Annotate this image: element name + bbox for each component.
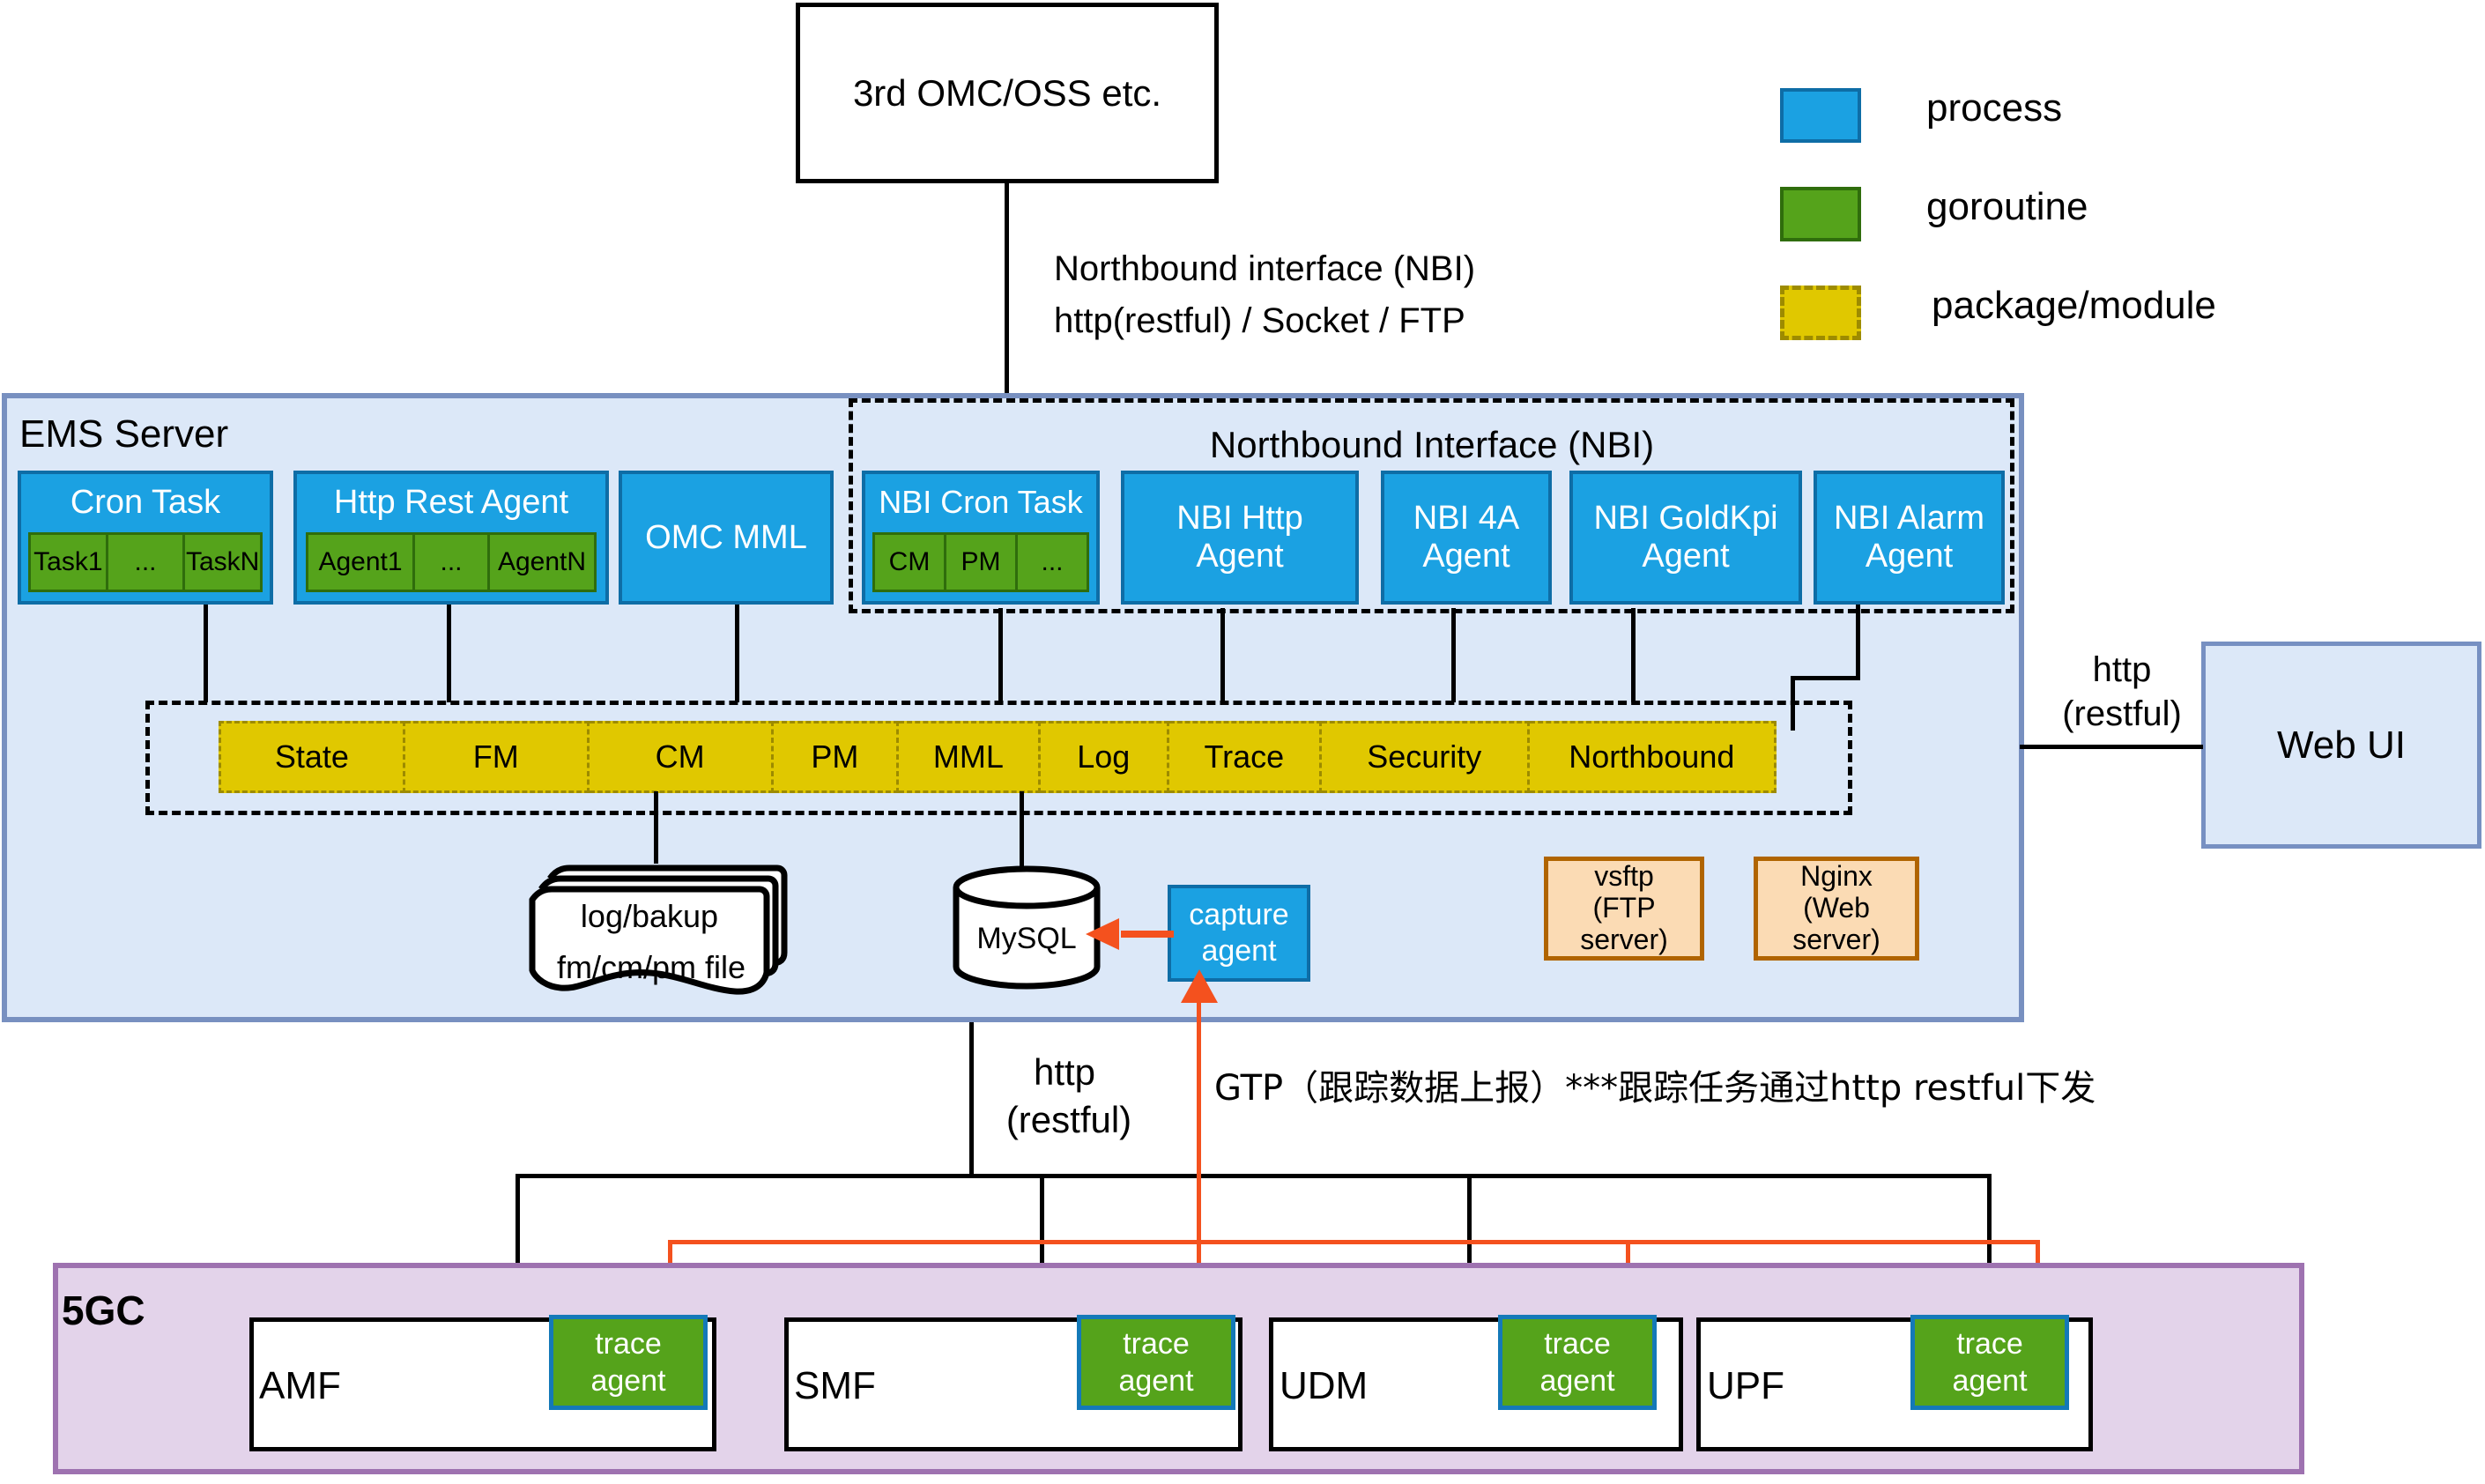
process-capture-agent-label: capture agent	[1189, 897, 1288, 969]
legend-swatch-process-icon	[1780, 88, 1861, 143]
nbi-link-label-line1: Northbound interface (NBI)	[1054, 249, 1475, 289]
file-store-label-line1: log/bakup	[539, 899, 760, 934]
trace-agent-amf-label-line1: trace	[595, 1325, 662, 1363]
gtp-trunk-vertical	[1197, 982, 1201, 1243]
legend-label-package: package/module	[1932, 284, 2216, 328]
goroutine-item[interactable]: Agent1	[306, 532, 415, 592]
process-nbi-goldkpi-agent-label: NBI GoldKpi Agent	[1593, 500, 1777, 575]
trace-agent-smf[interactable]: trace agent	[1077, 1315, 1235, 1410]
connector-mysql	[1020, 791, 1024, 871]
goroutine-item[interactable]: AgentN	[490, 532, 597, 592]
module-cm[interactable]: CM	[590, 721, 774, 793]
server-nginx-label-line2: (Web server)	[1758, 893, 1915, 956]
south-http-label-line1: http	[994, 1052, 1135, 1093]
goroutine-group-cron-task: Task1 ... TaskN	[28, 532, 263, 592]
process-http-rest-agent[interactable]: Http Rest Agent Agent1 ... AgentN	[293, 471, 609, 605]
connector-nbi-alarm-agent-upper	[1856, 605, 1860, 680]
web-ui-box[interactable]: Web UI	[2201, 642, 2481, 849]
goroutine-item[interactable]: ...	[108, 532, 186, 592]
legend-item-goroutine: goroutine	[1780, 187, 2379, 250]
goroutine-item[interactable]: TaskN	[185, 532, 263, 592]
trace-agent-smf-label-line2: agent	[1118, 1362, 1193, 1400]
module-state[interactable]: State	[219, 721, 405, 793]
goroutine-item[interactable]: ...	[415, 532, 490, 592]
nf-udm-label: UDM	[1280, 1364, 1368, 1408]
module-northbound[interactable]: Northbound	[1530, 721, 1777, 793]
process-http-rest-agent-label: Http Rest Agent	[297, 479, 605, 525]
legend: process goroutine package/module	[1780, 88, 2379, 326]
goroutine-item[interactable]: PM	[946, 532, 1018, 592]
southbound-trunk-vertical	[969, 1022, 974, 1176]
capture-to-mysql-arrow	[1086, 915, 1174, 953]
trace-agent-udm[interactable]: trace agent	[1498, 1315, 1657, 1410]
nbi-trunk-line	[1005, 183, 1009, 397]
web-ui-label: Web UI	[2277, 723, 2406, 767]
nf-smf-label: SMF	[794, 1364, 876, 1408]
process-nbi-goldkpi-agent[interactable]: NBI GoldKpi Agent	[1569, 471, 1802, 605]
process-nbi-cron-task-label: NBI Cron Task	[865, 479, 1096, 525]
module-fm[interactable]: FM	[405, 721, 590, 793]
process-nbi-http-agent[interactable]: NBI Http Agent	[1121, 471, 1359, 605]
legend-swatch-package-icon	[1780, 286, 1861, 340]
process-capture-agent[interactable]: capture agent	[1168, 885, 1310, 982]
goroutine-item[interactable]: ...	[1018, 532, 1089, 592]
connector-omc-mml	[735, 605, 739, 702]
server-nginx-label-line1: Nginx	[1800, 861, 1873, 893]
process-nbi-4a-agent[interactable]: NBI 4A Agent	[1381, 471, 1552, 605]
south-http-label-line2: (restful)	[985, 1100, 1153, 1140]
ems-server-title: EMS Server	[19, 412, 228, 456]
legend-label-goroutine: goroutine	[1926, 185, 2088, 229]
nbi-link-label-line2: http(restful) / Socket / FTP	[1054, 301, 1465, 341]
process-nbi-alarm-agent[interactable]: NBI Alarm Agent	[1814, 471, 2005, 605]
module-mml[interactable]: MML	[899, 721, 1041, 793]
connector-nbi-cron-task	[998, 608, 1003, 702]
process-cron-task[interactable]: Cron Task Task1 ... TaskN	[18, 471, 273, 605]
module-trace[interactable]: Trace	[1169, 721, 1322, 793]
connector-ems-to-webui	[2020, 745, 2203, 749]
nf-upf-label: UPF	[1707, 1364, 1784, 1408]
gtp-note-label: GTP（跟踪数据上报）***跟踪任务通过http restful下发	[1214, 1059, 2096, 1110]
goroutine-item[interactable]: Task1	[28, 532, 108, 592]
connector-nbi-alarm-agent-bridge	[1791, 676, 1860, 680]
trace-agent-upf[interactable]: trace agent	[1910, 1315, 2069, 1410]
connector-nbi-4a-agent	[1451, 608, 1456, 702]
webui-link-label-line2: (restful)	[2043, 694, 2201, 733]
module-log[interactable]: Log	[1041, 721, 1169, 793]
trace-agent-upf-label-line1: trace	[1956, 1325, 2023, 1363]
legend-item-package: package/module	[1780, 286, 2379, 349]
server-nginx[interactable]: Nginx (Web server)	[1754, 857, 1919, 961]
gtp-trunk-horizontal	[668, 1240, 2039, 1244]
goroutine-group-nbi-cron-task: CM PM ...	[872, 532, 1089, 592]
connector-cron-task	[204, 605, 208, 702]
gtp-arrowhead-capture-agent	[1176, 969, 1223, 1005]
module-security[interactable]: Security	[1322, 721, 1530, 793]
external-omc-oss-label: 3rd OMC/OSS etc.	[853, 72, 1161, 114]
trace-agent-amf[interactable]: trace agent	[549, 1315, 708, 1410]
module-bar: State FM CM PM MML Log Trace Security No…	[219, 721, 1777, 793]
process-nbi-alarm-agent-label: NBI Alarm Agent	[1834, 500, 1984, 575]
trace-agent-udm-label-line2: agent	[1539, 1362, 1614, 1400]
server-vsftp-label-line1: vsftp	[1594, 861, 1654, 893]
process-omc-mml[interactable]: OMC MML	[619, 471, 834, 605]
legend-swatch-goroutine-icon	[1780, 187, 1861, 241]
legend-item-process: process	[1780, 88, 2379, 152]
process-cron-task-label: Cron Task	[21, 479, 270, 525]
process-nbi-cron-task[interactable]: NBI Cron Task CM PM ...	[862, 471, 1100, 605]
module-pm[interactable]: PM	[774, 721, 900, 793]
goroutine-item[interactable]: CM	[872, 532, 946, 592]
legend-label-process: process	[1926, 86, 2062, 130]
server-vsftp[interactable]: vsftp (FTP server)	[1544, 857, 1704, 961]
diagram-canvas: 3rd OMC/OSS etc. Northbound interface (N…	[0, 0, 2485, 1484]
gc5-title: 5GC	[62, 1287, 145, 1334]
trace-agent-upf-label-line2: agent	[1952, 1362, 2027, 1400]
southbound-trunk-horizontal	[516, 1174, 1992, 1178]
trace-agent-smf-label-line1: trace	[1123, 1325, 1190, 1363]
process-omc-mml-label: OMC MML	[645, 519, 807, 557]
trace-agent-udm-label-line1: trace	[1544, 1325, 1611, 1363]
external-omc-oss-box: 3rd OMC/OSS etc.	[796, 3, 1219, 183]
connector-nbi-http-agent	[1220, 608, 1225, 702]
file-store-label-line2: fm/cm/pm file	[532, 950, 770, 985]
connector-http-rest-agent	[447, 605, 451, 702]
process-nbi-4a-agent-label: NBI 4A Agent	[1413, 500, 1519, 575]
connector-nbi-goldkpi-agent	[1631, 608, 1636, 702]
goroutine-group-http-rest-agent: Agent1 ... AgentN	[306, 532, 597, 592]
trace-agent-amf-label-line2: agent	[590, 1362, 665, 1400]
process-nbi-http-agent-label: NBI Http Agent	[1176, 500, 1303, 575]
webui-link-label-line1: http	[2051, 650, 2192, 689]
server-vsftp-label-line2: (FTP server)	[1548, 893, 1700, 956]
database-mysql-label: MySQL	[953, 921, 1100, 956]
nbi-group-title: Northbound Interface (NBI)	[969, 423, 1895, 467]
nf-amf-label: AMF	[259, 1364, 341, 1408]
connector-log-store	[654, 791, 658, 864]
